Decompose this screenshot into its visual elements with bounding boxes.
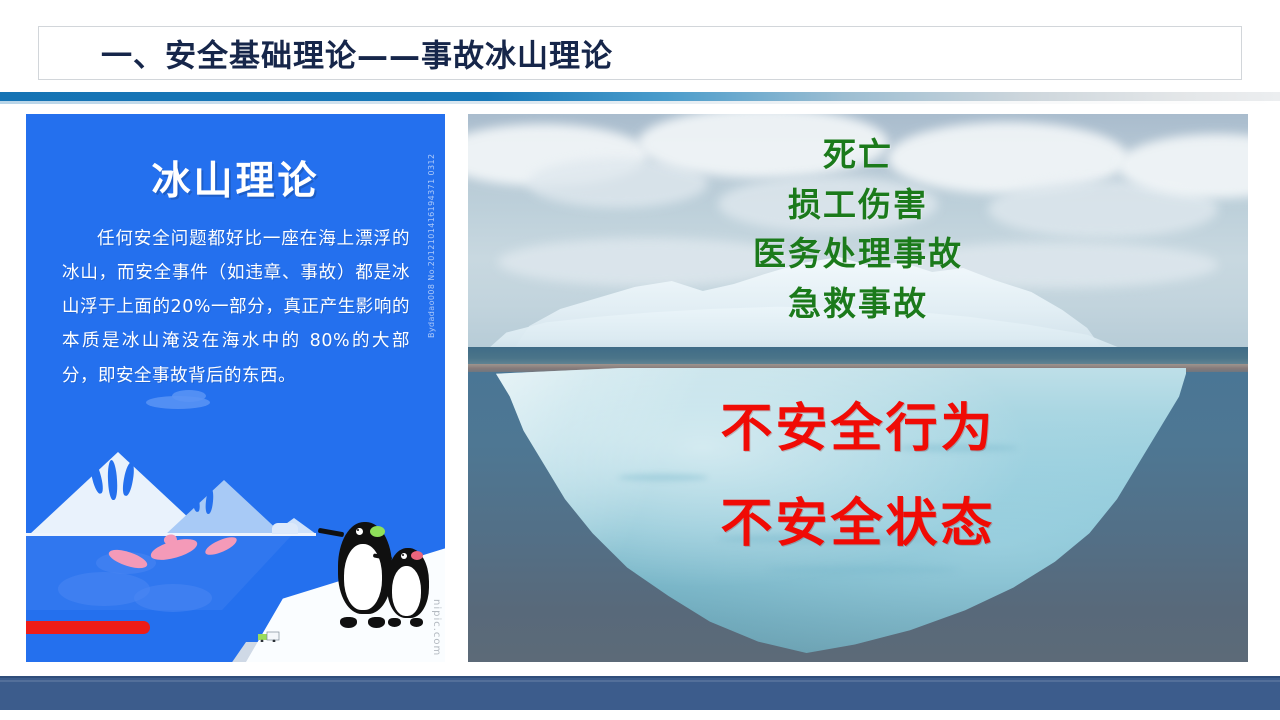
poster-illustration — [26, 372, 445, 662]
below-water-line: 不安全行为 — [468, 382, 1248, 477]
poster-title: 冰山理论 — [26, 150, 445, 206]
slide-bottom-bar — [0, 676, 1280, 712]
bottom-bar-highlight — [0, 680, 1280, 682]
below-water-text-group: 不安全行为 不安全状态 — [468, 382, 1248, 571]
slide-footer-space — [0, 710, 1280, 720]
poster-body-text: 任何安全问题都好比一座在海上漂浮的冰山，而安全事件（如违章、事故）都是冰山浮于上… — [62, 222, 410, 393]
iceberg-theory-poster: 冰山理论 任何安全问题都好比一座在海上漂浮的冰山，而安全事件（如违章、事故）都是… — [26, 114, 445, 662]
poster-watermark: Bydadao008 No.2012101416194371 0312 — [427, 118, 443, 338]
cloud-icon — [172, 390, 206, 402]
slide-canvas: 一、安全基础理论——事故冰山理论 冰山理论 任何安全问题都好比一座在海上漂浮的冰… — [0, 0, 1280, 720]
above-water-text-group: 死亡 损工伤害 医务处理事故 急救事故 — [468, 130, 1248, 328]
above-water-line: 死亡 — [468, 130, 1248, 180]
header-accent-shadow — [0, 101, 1280, 104]
reflection-blob — [134, 584, 212, 612]
snow-truck-icon — [258, 631, 280, 642]
above-water-line: 医务处理事故 — [468, 229, 1248, 279]
mountain-icon — [166, 480, 282, 534]
slide-title-box: 一、安全基础理论——事故冰山理论 — [38, 26, 1242, 80]
penguin-icon — [384, 542, 432, 624]
below-water-line: 不安全状态 — [468, 477, 1248, 572]
site-watermark: nipic.com — [431, 599, 442, 656]
above-water-line: 损工伤害 — [468, 180, 1248, 230]
page-title: 一、安全基础理论——事故冰山理论 — [101, 31, 613, 76]
iceberg-photo: 死亡 损工伤害 医务处理事故 急救事故 不安全行为 不安全状态 — [468, 114, 1248, 662]
header-accent-strip — [0, 92, 1280, 101]
ice-floe-icon — [272, 523, 298, 534]
red-accent-bar — [26, 621, 150, 634]
above-water-line: 急救事故 — [468, 279, 1248, 329]
